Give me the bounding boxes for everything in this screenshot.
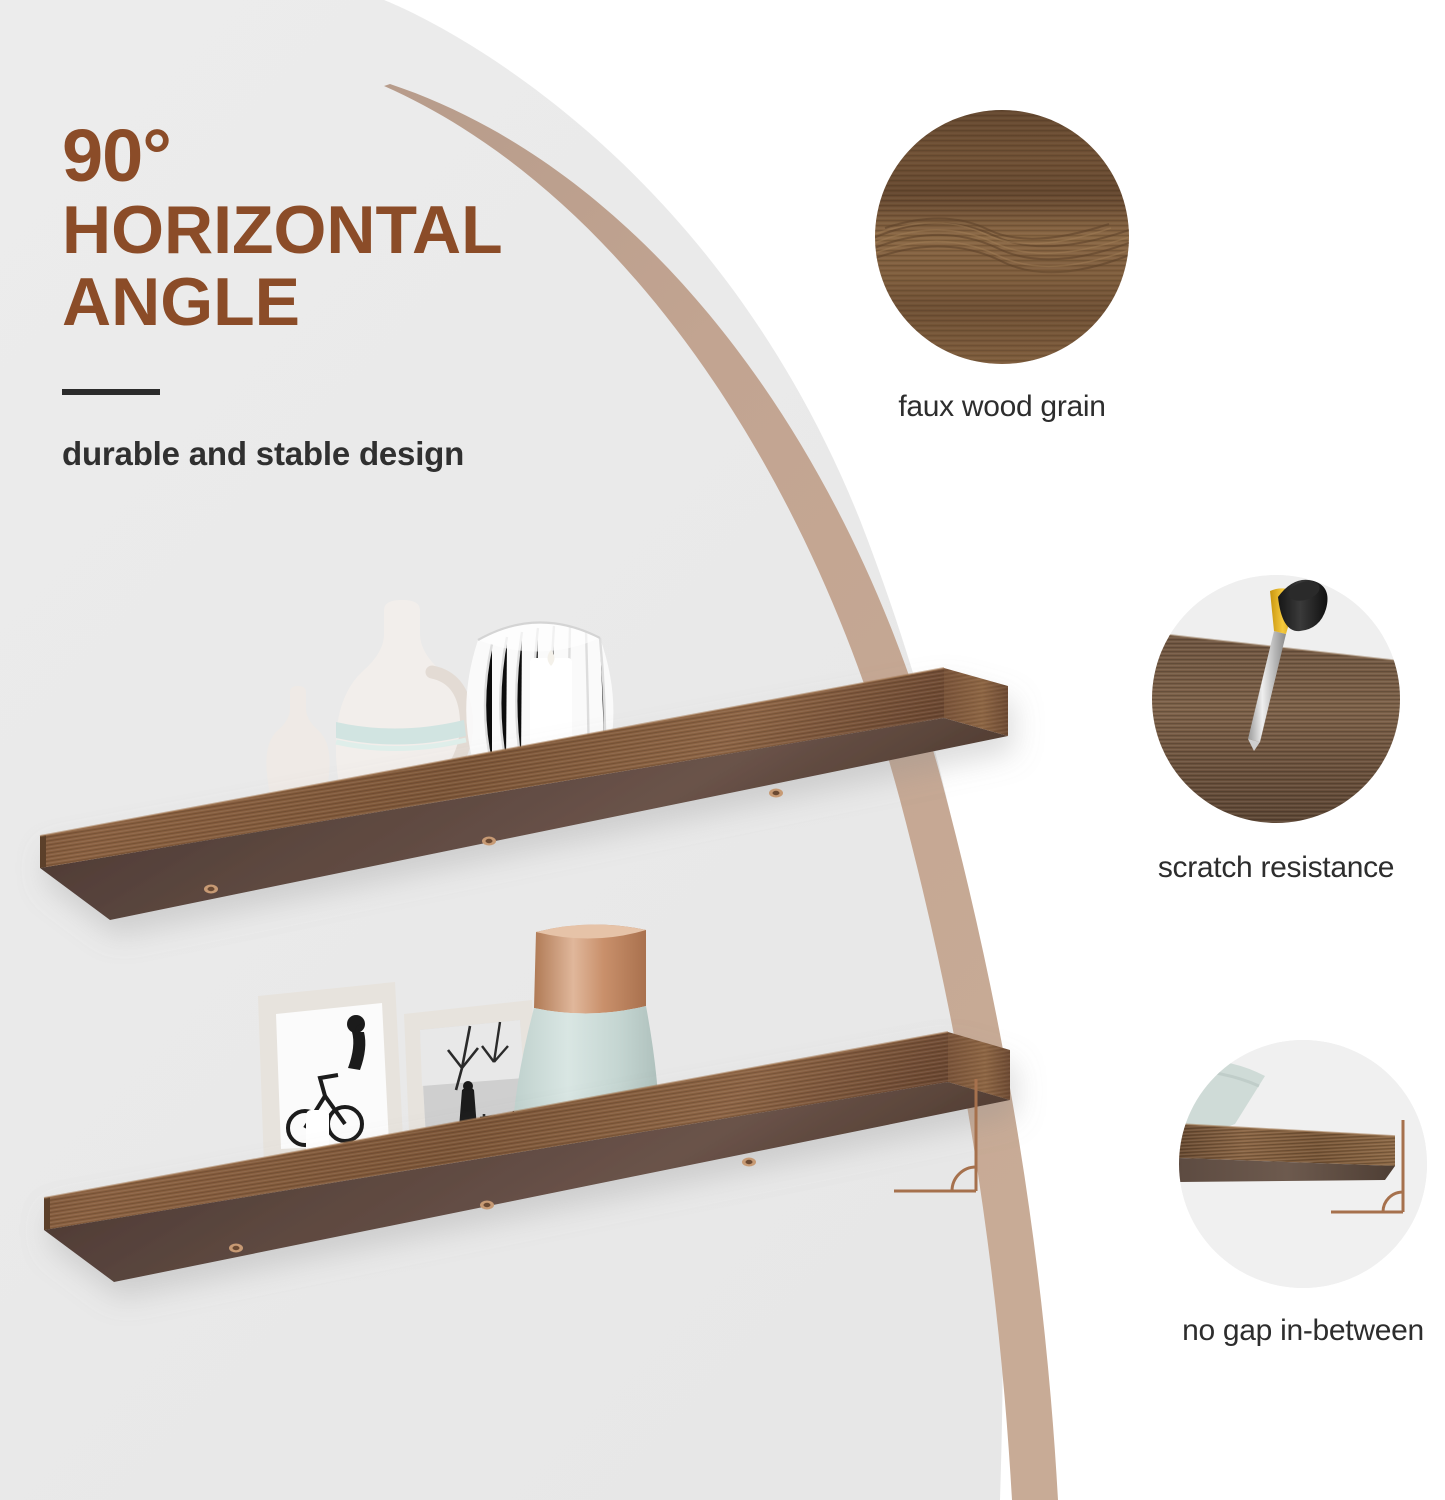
callout-scratch-resistance: scratch resistance (1106, 575, 1445, 885)
headline-block: 90° HORIZONTAL ANGLE durable and stable … (62, 120, 682, 473)
callout-caption: faux wood grain (852, 390, 1152, 424)
right-angle-indicator (890, 1075, 1000, 1200)
headline-line-1: HORIZONTAL (62, 195, 682, 265)
screw-hole-inner (486, 839, 493, 843)
callout-faux-wood-grain: faux wood grain (852, 110, 1152, 424)
upper-shelf-scene (0, 520, 1010, 950)
screw-hole-inner (773, 791, 780, 795)
screwdriver-on-wood-icon (1152, 575, 1400, 823)
headline-line-2: ANGLE (62, 267, 682, 337)
callout-no-gap: no gap in-between (1158, 1040, 1445, 1348)
screw-hole-inner (233, 1246, 240, 1250)
screw-hole-inner (746, 1160, 753, 1164)
screw-hole-inner (208, 887, 215, 891)
lower-shelf-scene (0, 900, 1010, 1300)
screw-hole-inner (484, 1203, 491, 1207)
shelf-edge-right-angle-icon (1179, 1040, 1427, 1288)
headline-divider (62, 389, 160, 395)
headline-subhead: durable and stable design (62, 435, 682, 473)
product-feature-image: 90° HORIZONTAL ANGLE durable and stable … (0, 0, 1445, 1500)
callout-caption: no gap in-between (1158, 1314, 1445, 1348)
wood-grain-swatch-icon (875, 110, 1129, 364)
callout-caption: scratch resistance (1106, 851, 1445, 885)
headline-degree: 90° (62, 120, 682, 193)
